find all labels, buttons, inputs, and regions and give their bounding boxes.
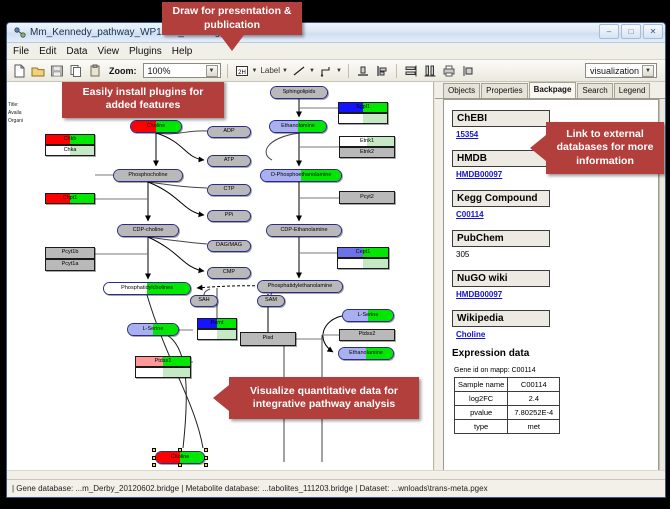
- pathway-node-ethanolamine-1[interactable]: Ethanolamine: [269, 120, 327, 133]
- node-label: Sgpl1: [356, 105, 370, 111]
- pathway-diagram[interactable]: CholineSphingolipidsEthanolamineADPATPPh…: [7, 82, 434, 481]
- side-panel-tabs: Objects Properties Backpage Search Legen…: [435, 82, 666, 99]
- expression-table: Sample name C00114 log2FC 2.4 pvalue 7.8…: [454, 377, 560, 434]
- pathway-node-cdp-choline[interactable]: CDP-choline: [117, 224, 179, 237]
- pathway-node-cmp[interactable]: CMP: [207, 267, 251, 279]
- chevron-down-icon[interactable]: ▼: [252, 68, 258, 74]
- minimize-button[interactable]: –: [599, 24, 619, 39]
- line-tool-icon[interactable]: [291, 63, 307, 79]
- tab-backpage[interactable]: Backpage: [529, 82, 577, 98]
- pathway-node-chpt1[interactable]: Chpt1: [45, 193, 95, 204]
- pathway-node-cept1[interactable]: Cept1: [337, 247, 389, 258]
- selection-handle-2[interactable]: [204, 448, 208, 452]
- node-label: Cept1: [356, 250, 371, 256]
- selection-handle-7[interactable]: [204, 463, 208, 467]
- distribute-horizontal-icon[interactable]: [422, 63, 438, 79]
- menu-item-view[interactable]: View: [97, 46, 119, 57]
- pathway-node-sgpl1-row2[interactable]: [338, 113, 388, 124]
- backpage-header-chebi: ChEBI: [452, 110, 550, 127]
- label-tool-label[interactable]: Label: [260, 66, 280, 75]
- callout-plugins-text: Easily install plugins for added feature…: [68, 86, 218, 112]
- save-icon[interactable]: [49, 63, 65, 79]
- pathway-node-pisd[interactable]: Pisd: [240, 332, 296, 346]
- pathway-node-ptdss1-row2[interactable]: [135, 367, 191, 378]
- status-bar: | Gene database: ...m_Derby_20120602.bri…: [7, 479, 665, 497]
- pathway-node-pcyt1a[interactable]: Pcyt1a: [45, 259, 95, 271]
- open-folder-icon[interactable]: [30, 63, 46, 79]
- pathway-node-sgpl1[interactable]: Sgpl1: [338, 102, 388, 113]
- table-row: type met: [455, 420, 560, 434]
- node-label: Chka: [64, 148, 77, 154]
- expr-cell-label: log2FC: [455, 392, 508, 406]
- expr-cell-value: C00114: [508, 378, 560, 392]
- selection-handle-5[interactable]: [152, 463, 156, 467]
- align-bottom-icon[interactable]: [355, 63, 371, 79]
- close-button[interactable]: ✕: [643, 24, 663, 39]
- node-label: DAG/MAG: [216, 243, 242, 249]
- pathway-node-cept1-row2[interactable]: [337, 258, 389, 269]
- node-label: Pisd: [263, 336, 274, 342]
- node-label: CDP-choline: [133, 228, 164, 234]
- node-label: CDP-Ethanolamine: [280, 228, 327, 234]
- node-label: Phosphatidylethanolamine: [268, 284, 333, 290]
- backpage-header-pubchem: PubChem: [452, 230, 550, 247]
- table-row: log2FC 2.4: [455, 392, 560, 406]
- selection-handle-6[interactable]: [178, 463, 182, 467]
- pathway-node-phosphatidylethanolamine[interactable]: Phosphatidylethanolamine: [257, 280, 343, 293]
- expr-cell-value: 2.4: [508, 392, 560, 406]
- backpage-link-kegg[interactable]: C00114: [456, 210, 652, 219]
- pathway-node-dagmag[interactable]: DAG/MAG: [207, 240, 251, 252]
- maximize-button[interactable]: □: [621, 24, 641, 39]
- chevron-down-icon[interactable]: ▼: [206, 65, 218, 77]
- node-label: SAH: [198, 298, 209, 304]
- connector-tool-icon[interactable]: [318, 63, 334, 79]
- menu-item-data[interactable]: Data: [66, 46, 87, 57]
- print-icon[interactable]: [441, 63, 457, 79]
- node-label: Phosphatidylcholines: [121, 286, 173, 292]
- pathway-node-adp[interactable]: ADP: [207, 126, 251, 138]
- pathway-node-ctp[interactable]: CTP: [207, 184, 251, 196]
- pathway-node-chka[interactable]: Chka: [45, 145, 95, 156]
- callout-links: Link to external databases for more info…: [546, 122, 664, 174]
- distribute-vertical-icon[interactable]: [403, 63, 419, 79]
- title-bar: Mm_Kennedy_pathway_WP1771_45176.gpml – □…: [7, 23, 665, 43]
- callout-links-text: Link to external databases for more info…: [551, 128, 659, 167]
- callout-draw-arrow-icon: [220, 35, 244, 51]
- pathway-node-l-serine-left[interactable]: L-Serine: [127, 323, 179, 336]
- zoom-value: 100%: [148, 66, 171, 76]
- table-row: pvalue 7.80252E-4: [455, 406, 560, 420]
- copy-icon[interactable]: [68, 63, 84, 79]
- pathway-canvas[interactable]: Title: Availa Organi: [7, 82, 434, 481]
- backpage-header-wikipedia: Wikipedia: [452, 310, 550, 327]
- node-label: Chpt1: [63, 196, 78, 202]
- menu-item-edit[interactable]: Edit: [39, 46, 56, 57]
- backpage-header-kegg: Kegg Compound: [452, 190, 550, 207]
- pathway-node-sah[interactable]: SAH: [190, 295, 218, 307]
- pathway-node-etnk1[interactable]: Etnk1: [339, 136, 395, 147]
- node-label: L-Serine: [358, 313, 379, 319]
- node-label: Phosphocholine: [128, 173, 167, 179]
- backpage-header-nugo: NuGO wiki: [452, 270, 550, 287]
- pathway-node-pemt-row2[interactable]: [197, 329, 237, 340]
- pathway-node-choline-top[interactable]: Choline: [130, 120, 182, 133]
- node-label: Choline: [171, 455, 190, 461]
- expr-cell-label: type: [455, 420, 508, 434]
- node-label: Ptdss1: [155, 359, 172, 365]
- pathway-node-chkb[interactable]: Chkb: [45, 134, 95, 145]
- node-label: CMP: [223, 270, 235, 276]
- menu-item-help[interactable]: Help: [172, 46, 193, 57]
- pathway-node-ethanolamine-2[interactable]: Ethanolamine: [338, 347, 394, 360]
- node-label: Pcyt1a: [62, 262, 79, 268]
- pathway-node-sam[interactable]: SAM: [257, 295, 285, 307]
- pathway-node-sphingolipids[interactable]: Sphingolipids: [270, 86, 328, 99]
- tab-objects[interactable]: Objects: [443, 83, 480, 98]
- pathway-node-ptdss1[interactable]: Ptdss1: [135, 356, 191, 367]
- expr-cell-value: met: [508, 420, 560, 434]
- backpage-link-wikipedia[interactable]: Choline: [456, 330, 652, 339]
- menu-item-file[interactable]: File: [13, 46, 29, 57]
- toolbar-divider: [227, 64, 228, 78]
- tab-properties[interactable]: Properties: [481, 83, 527, 98]
- pathway-node-atp[interactable]: ATP: [207, 155, 251, 167]
- svg-text:2H: 2H: [238, 69, 246, 75]
- expr-cell-label: Sample name: [455, 378, 508, 392]
- node-label: Pcyt2: [360, 195, 374, 201]
- new-file-icon[interactable]: [11, 63, 27, 79]
- pathway-node-o-phosphoethanolamine[interactable]: O-Phosphoethanolamine: [260, 169, 342, 182]
- node-label: Etnk2: [360, 150, 374, 156]
- callout-visualize-arrow-icon: [213, 385, 229, 411]
- pathway-node-ptdss2[interactable]: Ptdss2: [339, 329, 395, 341]
- pathway-node-pcyt1b[interactable]: Pcyt1b: [45, 247, 95, 259]
- status-text: | Gene database: ...m_Derby_20120602.bri…: [7, 484, 488, 493]
- node-label: Ptdss2: [359, 332, 376, 338]
- zoom-label: Zoom:: [109, 66, 137, 76]
- window-controls[interactable]: – □ ✕: [599, 24, 663, 39]
- same-width-icon[interactable]: [460, 63, 476, 79]
- backpage-value-pubchem: 305: [456, 250, 652, 259]
- visualization-combo[interactable]: visualization ▼: [585, 63, 657, 78]
- paste-icon[interactable]: [87, 63, 103, 79]
- node-label: CTP: [224, 187, 235, 193]
- node-label: Pemt: [211, 321, 224, 327]
- chevron-down-icon[interactable]: ▼: [642, 65, 654, 77]
- secondary-bar: [7, 470, 665, 479]
- toolbar-divider: [348, 64, 349, 78]
- visualization-value: visualization: [590, 66, 639, 76]
- pathvisio-window: Mm_Kennedy_pathway_WP1771_45176.gpml – □…: [6, 22, 666, 498]
- callout-plugins: Easily install plugins for added feature…: [62, 82, 224, 118]
- node-label: Choline: [147, 124, 166, 130]
- selection-handle-3[interactable]: [152, 456, 156, 460]
- expr-cell-label: pvalue: [455, 406, 508, 420]
- node-label: Ethanolamine: [281, 124, 315, 130]
- node-label: PPi: [225, 213, 234, 219]
- node-label: Pcyt1b: [62, 250, 79, 256]
- expression-data-heading: Expression data: [452, 348, 652, 359]
- backpage-link-nugo[interactable]: HMDB00097: [456, 290, 652, 299]
- node-label: Etnk1: [360, 139, 374, 145]
- callout-draw: Draw for presentation & publication: [162, 2, 302, 35]
- selection-handle-4[interactable]: [204, 456, 208, 460]
- tab-legend[interactable]: Legend: [614, 83, 651, 98]
- zoom-combo[interactable]: 100% ▼: [143, 63, 221, 78]
- chevron-down-icon[interactable]: ▼: [282, 68, 288, 74]
- selection-handle-1[interactable]: [178, 448, 182, 452]
- node-label: O-Phosphoethanolamine: [271, 173, 332, 179]
- align-left-icon[interactable]: [374, 63, 390, 79]
- pathway-node-l-serine-right[interactable]: L-Serine: [342, 309, 394, 322]
- callout-visualize: Visualize quantitative data for integrat…: [229, 377, 419, 419]
- pathway-node-cdp-ethanolamine[interactable]: CDP-Ethanolamine: [266, 224, 342, 237]
- node-label: ATP: [224, 158, 234, 164]
- expression-gene-id: Gene id on mapp: C00114: [454, 367, 652, 374]
- callout-visualize-text: Visualize quantitative data for integrat…: [235, 385, 413, 411]
- expr-cell-value: 7.80252E-4: [508, 406, 560, 420]
- node-label: Ethanolamine: [349, 351, 383, 357]
- pathway-node-etnk2[interactable]: Etnk2: [339, 147, 395, 158]
- node-label: Chkb: [64, 137, 77, 143]
- node-label: ADP: [223, 129, 234, 135]
- text-style-icon[interactable]: 2H: [234, 63, 250, 79]
- node-label: L-Serine: [143, 327, 164, 333]
- node-label: SAM: [265, 298, 277, 304]
- pathway-node-phosphatidylcholines[interactable]: Phosphatidylcholines: [103, 282, 191, 295]
- pathway-node-pemt[interactable]: Pemt: [197, 318, 237, 329]
- tool-bar: Zoom: 100% ▼ 2H ▼ Label ▼ ▼ ▼: [7, 60, 665, 82]
- node-label: Sphingolipids: [283, 90, 316, 96]
- menu-bar: File Edit Data View Plugins Help: [7, 43, 665, 60]
- pathway-node-pcyt2[interactable]: Pcyt2: [339, 191, 395, 204]
- screenshot-root: Mm_Kennedy_pathway_WP1771_45176.gpml – □…: [0, 0, 670, 509]
- selection-handle-0[interactable]: [152, 448, 156, 452]
- chevron-down-icon[interactable]: ▼: [336, 68, 342, 74]
- chevron-down-icon[interactable]: ▼: [309, 68, 315, 74]
- callout-links-arrow-icon: [530, 135, 546, 161]
- callout-draw-text: Draw for presentation & publication: [168, 5, 296, 31]
- tab-search[interactable]: Search: [577, 83, 612, 98]
- pathway-node-phosphocholine[interactable]: Phosphocholine: [113, 169, 183, 182]
- pathway-node-ppi[interactable]: PPi: [207, 210, 251, 222]
- pathvisio-icon: [13, 26, 26, 39]
- toolbar-divider: [396, 64, 397, 78]
- menu-item-plugins[interactable]: Plugins: [129, 46, 162, 57]
- table-row: Sample name C00114: [455, 378, 560, 392]
